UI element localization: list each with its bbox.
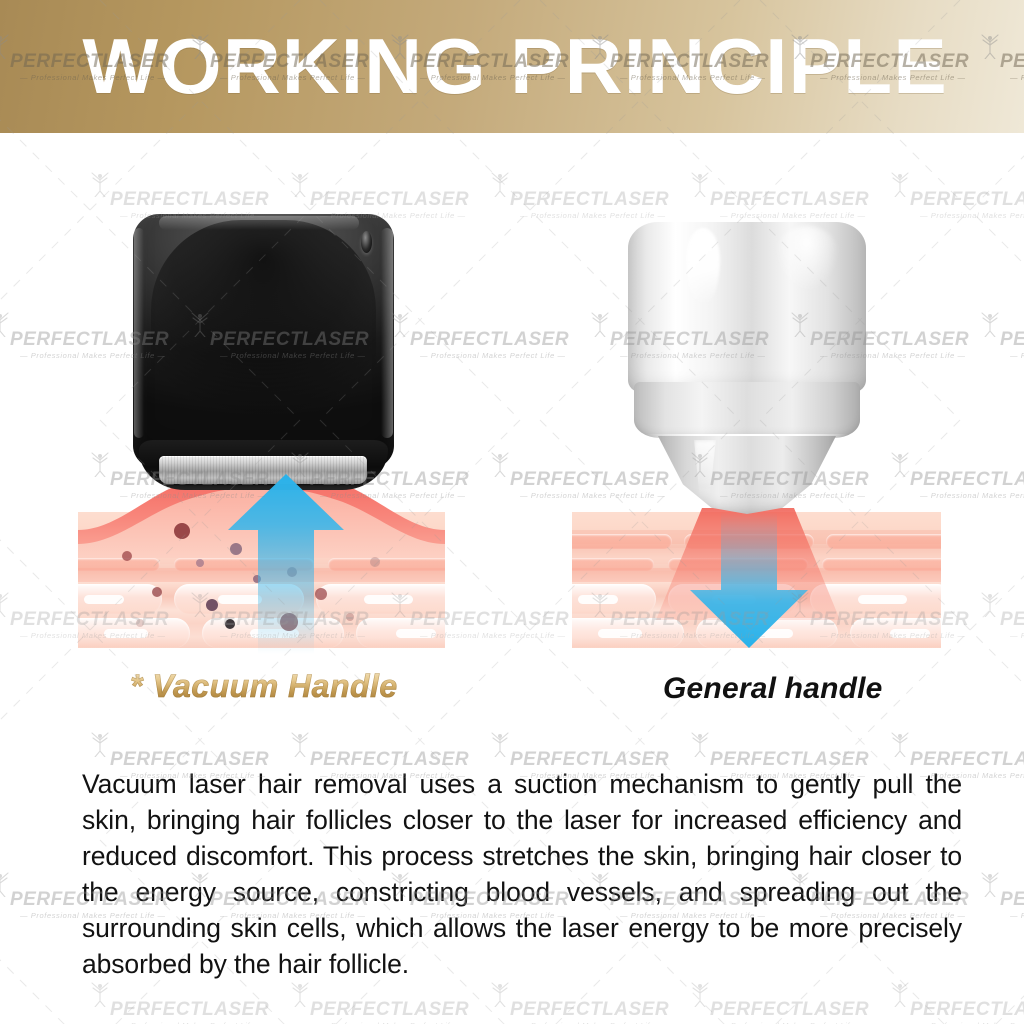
header-banner: WORKING PRINCIPLE: [0, 0, 1024, 133]
watermark: PERFECTLASER— Professional Makes Perfect…: [910, 470, 1024, 500]
hair-follicle-dot: [206, 599, 218, 611]
watermark: PERFECTLASER— Professional Makes Perfect…: [510, 190, 669, 220]
hair-follicle-dot: [174, 523, 190, 539]
description-paragraph: Vacuum laser hair removal uses a suction…: [82, 766, 962, 982]
hair-follicle-dot: [136, 619, 144, 627]
watermark-brand: PERFECTLASER: [710, 1000, 869, 1019]
general-handle-gloss-left: [686, 228, 720, 306]
watermark-tagline: — Professional Makes Perfect Life —: [420, 352, 569, 360]
watermark-tagline: — Professional Makes Perfect Life —: [720, 212, 869, 220]
watermark-tagline: — Professional Makes Perfect Life —: [920, 492, 1024, 500]
fairy-logo-icon: [488, 981, 512, 1007]
poster-canvas: WORKING PRINCIPLE: [0, 0, 1024, 1024]
general-handle-device[interactable]: [616, 222, 879, 512]
watermark-tagline: — Professional Makes Perfect Life —: [520, 212, 669, 220]
watermark-brand: PERFECTLASER: [310, 1000, 469, 1019]
watermark-brand: PERFECTLASER: [110, 190, 269, 209]
general-handle-upper-body: [628, 222, 866, 392]
hair-follicle-dot: [346, 613, 354, 621]
hair-follicle-dot: [152, 587, 162, 597]
watermark-brand: PERFECTLASER: [910, 1000, 1024, 1019]
fairy-logo-icon: [488, 451, 512, 477]
watermark-brand: PERFECTLASER: [1000, 330, 1024, 349]
fairy-logo-icon: [288, 731, 312, 757]
fairy-logo-icon: [88, 171, 112, 197]
vacuum-handle-top-highlight: [159, 216, 359, 230]
watermark: PERFECTLASER— Professional Makes Perfect…: [710, 190, 869, 220]
fairy-logo-icon: [88, 731, 112, 757]
fairy-logo-icon: [888, 171, 912, 197]
watermark-tagline: — Professional Makes Perfect Life —: [920, 212, 1024, 220]
suction-arrow-up-icon: [228, 474, 344, 654]
hair-follicle-dot: [196, 559, 204, 567]
watermark-brand: PERFECTLASER: [1000, 890, 1024, 909]
vacuum-handle-device[interactable]: [133, 214, 394, 489]
fairy-logo-icon: [288, 981, 312, 1007]
watermark-brand: PERFECTLASER: [510, 1000, 669, 1019]
page-title: WORKING PRINCIPLE: [0, 0, 1024, 133]
fairy-logo-icon: [88, 981, 112, 1007]
watermark-brand: PERFECTLASER: [410, 330, 569, 349]
fairy-logo-icon: [0, 311, 12, 337]
watermark-tagline: — Professional Makes Perfect Life —: [1010, 352, 1024, 360]
watermark: PERFECTLASER— Professional Makes Perfect…: [310, 1000, 469, 1024]
general-handle-mid-band: [634, 382, 860, 438]
fairy-logo-icon: [688, 731, 712, 757]
watermark-brand: PERFECTLASER: [310, 190, 469, 209]
skin-cell-nucleus: [598, 629, 642, 638]
fairy-logo-icon: [0, 871, 12, 897]
fairy-logo-icon: [0, 591, 12, 617]
fairy-logo-icon: [488, 731, 512, 757]
fairy-logo-icon: [688, 981, 712, 1007]
laser-arrow-down-icon: [690, 512, 808, 648]
watermark: PERFECTLASER— Professional Makes Perfect…: [1000, 890, 1024, 920]
fairy-logo-icon: [888, 451, 912, 477]
skin-cell-nucleus: [890, 629, 930, 638]
vacuum-handle-caption: * Vacuum Handle: [130, 668, 430, 710]
fairy-logo-icon: [978, 311, 1002, 337]
fairy-logo-icon: [978, 871, 1002, 897]
fairy-logo-icon: [488, 171, 512, 197]
watermark-brand: PERFECTLASER: [710, 190, 869, 209]
hair-follicle-dot: [370, 557, 380, 567]
fairy-logo-icon: [588, 311, 612, 337]
watermark-brand: PERFECTLASER: [1000, 610, 1024, 629]
general-handle-gloss-right: [774, 226, 840, 292]
fairy-logo-icon: [688, 171, 712, 197]
watermark: PERFECTLASER— Professional Makes Perfect…: [1000, 330, 1024, 360]
fairy-logo-icon: [888, 731, 912, 757]
watermark-tagline: — Professional Makes Perfect Life —: [1010, 632, 1024, 640]
fairy-logo-icon: [288, 171, 312, 197]
general-handle-caption: General handle: [663, 672, 963, 712]
general-handle-tip-cone: [658, 436, 836, 514]
fairy-logo-icon: [978, 591, 1002, 617]
watermark: PERFECTLASER— Professional Makes Perfect…: [1000, 610, 1024, 640]
watermark: PERFECTLASER— Professional Makes Perfect…: [910, 1000, 1024, 1024]
watermark-tagline: — Professional Makes Perfect Life —: [1010, 912, 1024, 920]
watermark: PERFECTLASER— Professional Makes Perfect…: [910, 190, 1024, 220]
vacuum-handle-shading: [151, 220, 376, 435]
vacuum-handle-left-highlight: [134, 228, 144, 438]
skin-cell-nucleus: [858, 595, 906, 604]
skin-cell-nucleus: [578, 595, 618, 604]
hair-follicle-dot: [122, 551, 132, 561]
vacuum-handle-right-highlight: [381, 228, 393, 438]
watermark: PERFECTLASER— Professional Makes Perfect…: [710, 1000, 869, 1024]
watermark-brand: PERFECTLASER: [910, 470, 1024, 489]
watermark: PERFECTLASER— Professional Makes Perfect…: [510, 1000, 669, 1024]
watermark-brand: PERFECTLASER: [510, 190, 669, 209]
vacuum-suction-port-icon: [361, 231, 372, 253]
watermark: PERFECTLASER— Professional Makes Perfect…: [110, 1000, 269, 1024]
vacuum-handle-body: [133, 214, 394, 474]
watermark-brand: PERFECTLASER: [910, 190, 1024, 209]
watermark-brand: PERFECTLASER: [110, 1000, 269, 1019]
fairy-logo-icon: [888, 981, 912, 1007]
watermark: PERFECTLASER— Professional Makes Perfect…: [410, 330, 569, 360]
